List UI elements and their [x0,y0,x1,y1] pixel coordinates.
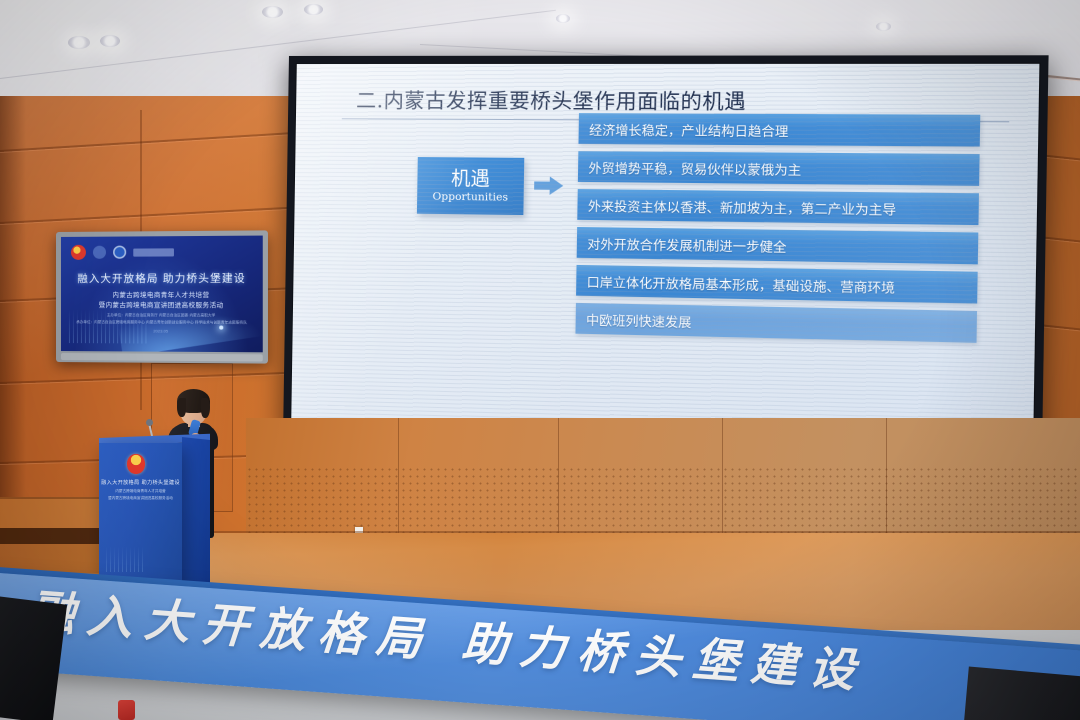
bullet-bar: 经济增长稳定，产业结构日趋合理 [578,113,980,146]
panel-seam [886,418,887,538]
wall-mounted-tv: 融入大开放格局 助力桥头堡建设 内蒙古跨境电商青年人才共培营 暨内蒙古跨境电商宣… [56,230,268,363]
bullet-text: 口岸立体化开放格局基本形成，基础设施、营商环境 [576,271,895,297]
ghost-logo-icon [93,246,106,259]
org-logo-icon [113,246,126,259]
tv-chin [61,353,263,361]
downlight-icon [68,36,90,49]
panel-seam [558,418,559,538]
bullet-text: 经济增长稳定，产业结构日趋合理 [579,119,789,140]
tv-logo-row [71,244,174,260]
conference-hall-photo: 二.内蒙古发挥重要桥头堡作用面临的机遇 机遇 Opportunities 经济增… [0,0,1080,720]
panel-seam [722,418,723,538]
downlight-icon [876,22,891,31]
podium-title: 融入大开放格局 助力桥头堡建设 [99,479,182,486]
downlight-icon [304,4,323,15]
bullet-text: 对外开放合作发展机制进一步健全 [577,233,787,256]
podium-microphone-head [146,419,153,426]
tv-fine-print-1: 主办单位：内蒙古自治区商务厅 内蒙古自治区团委 内蒙古高职大学 [61,313,263,318]
tv-date-line: 2023.05 [61,328,263,334]
foreground-object-right [964,666,1080,720]
podium-line-2: 内蒙古跨境电商青年人才共培营 [99,489,182,494]
bullet-bar: 中欧班列快速发展 [575,303,977,343]
bullet-text: 中欧班列快速发展 [576,309,692,331]
screen-surface: 二.内蒙古发挥重要桥头堡作用面临的机遇 机遇 Opportunities 经济增… [291,64,1039,454]
tv-fine-print-2: 承办单位：内蒙古自治区跨境电商服务中心 内蒙古青年创新创业服务中心 科学技术与创… [61,320,263,326]
bullet-text: 外贸增势平稳，贸易伙伴以蒙俄为主 [578,157,802,179]
perforated-acoustic-panel [246,466,1080,538]
presentation-slide: 二.内蒙古发挥重要桥头堡作用面临的机遇 机遇 Opportunities 经济增… [291,64,1039,454]
bullet-bar: 对外开放合作发展机制进一步健全 [577,227,979,264]
tv-subtitle-2: 暨内蒙古跨境电商宣讲团进高校服务活动 [61,299,263,309]
slide-title: 二.内蒙古发挥重要桥头堡作用面临的机遇 [356,84,747,115]
podium-side-panel [182,437,210,591]
emblem-icon [71,245,86,260]
opportunities-label-box: 机遇 Opportunities [417,157,524,215]
tv-screen: 融入大开放格局 助力桥头堡建设 内蒙古跨境电商青年人才共培营 暨内蒙古跨境电商宣… [61,236,263,353]
bullet-bar: 外贸增势平稳，贸易伙伴以蒙俄为主 [578,151,980,186]
partner-logo-icon [133,248,174,256]
emblem-icon [127,454,145,474]
tv-subtitle-1: 内蒙古跨境电商青年人才共培营 [61,289,263,299]
projection-screen: 二.内蒙古发挥重要桥头堡作用面临的机遇 机遇 Opportunities 经济增… [283,55,1049,462]
speaker-hair-side [177,398,186,417]
bullet-bar: 口岸立体化开放格局基本形成，基础设施、营商环境 [576,265,978,304]
podium-skyline-graphic [106,546,144,572]
bullet-bar-list: 经济增长稳定，产业结构日趋合理 外贸增势平稳，贸易伙伴以蒙俄为主 外来投资主体以… [575,113,1000,351]
opportunities-label-cn: 机遇 [451,168,490,190]
podium-line-3: 暨内蒙古跨境电商宣讲团进高校服务活动 [99,496,182,501]
bullet-bar: 外来投资主体以香港、新加坡为主，第二产业为主导 [577,189,979,225]
panel-seam [398,418,399,538]
tv-headline: 融入大开放格局 助力桥头堡建设 [61,270,263,286]
foreground-red-object [118,700,135,720]
wall-corner-shadow [0,96,26,566]
speaker-hair-side [201,398,210,418]
right-arrow-icon [534,176,563,195]
downlight-icon [556,14,570,23]
opportunities-label-en: Opportunities [432,191,508,204]
podium: 融入大开放格局 助力桥头堡建设 内蒙古跨境电商青年人才共培营 暨内蒙古跨境电商宣… [99,443,182,590]
bullet-text: 外来投资主体以香港、新加坡为主，第二产业为主导 [577,195,896,219]
downlight-icon [100,35,120,47]
downlight-icon [262,6,283,18]
